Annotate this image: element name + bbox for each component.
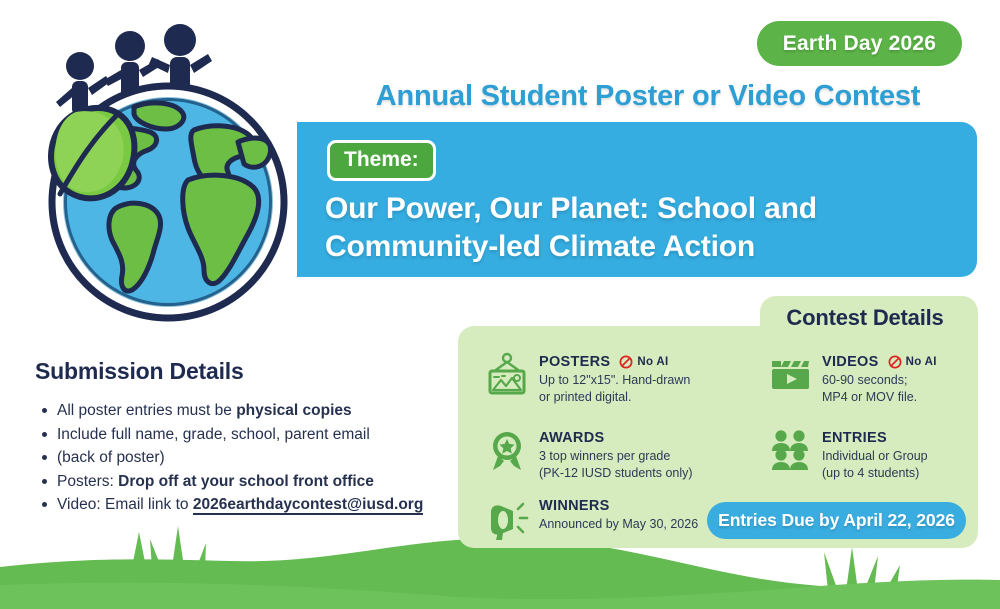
theme-tag-label: Theme:: [344, 148, 419, 171]
no-ai-prohibition-icon: [888, 355, 902, 369]
detail-text-winners: WINNERS Announced by May 30, 2026: [539, 496, 698, 533]
theme-statement: Our Power, Our Planet: School and Commun…: [325, 190, 955, 267]
list-item-text: Include full name, grade, school, parent…: [57, 426, 370, 443]
detail-body-line-1: Individual or Group: [822, 448, 928, 465]
detail-item-winners: WINNERS Announced by May 30, 2026: [485, 496, 698, 540]
no-ai-prohibition-icon: [619, 355, 633, 369]
detail-body-videos: 60-90 seconds; MP4 or MOV file.: [822, 372, 937, 406]
poster-canvas: Earth Day 2026 Annual Student Poster or …: [0, 0, 1000, 609]
detail-body-line-2: MP4 or MOV file.: [822, 389, 937, 406]
detail-title-videos: VIDEOS: [822, 354, 879, 370]
detail-item-awards: AWARDS 3 top winners per grade (PK-12 IU…: [485, 428, 693, 482]
theme-line-2: Community-led Climate Action: [325, 228, 955, 266]
list-item-text: (back of poster): [57, 449, 165, 466]
megaphone-icon: [485, 496, 529, 540]
detail-head-entries: ENTRIES: [822, 430, 928, 446]
detail-title-winners: WINNERS: [539, 498, 610, 514]
detail-body-line-2: or printed digital.: [539, 389, 690, 406]
detail-body-line-1: 60-90 seconds;: [822, 372, 937, 389]
detail-body-posters: Up to 12"x15". Hand-drawn or printed dig…: [539, 372, 690, 406]
detail-item-posters: POSTERS No AI Up to 12"x15". Hand-drawn …: [485, 352, 690, 406]
earth-day-badge: Earth Day 2026: [757, 21, 962, 66]
list-item: Posters: Drop off at your school front o…: [57, 470, 455, 494]
detail-text-entries: ENTRIES Individual or Group (up to 4 stu…: [822, 428, 928, 482]
detail-body-awards: 3 top winners per grade (PK-12 IUSD stud…: [539, 448, 693, 482]
entries-due-label: Entries Due by April 22, 2026: [718, 510, 955, 531]
detail-head-awards: AWARDS: [539, 430, 693, 446]
detail-body-line-1: 3 top winners per grade: [539, 448, 693, 465]
detail-body-line-2: (PK-12 IUSD students only): [539, 465, 693, 482]
award-ribbon-icon: [485, 428, 529, 472]
detail-item-entries: ENTRIES Individual or Group (up to 4 stu…: [768, 428, 928, 482]
list-item: Include full name, grade, school, parent…: [57, 423, 455, 447]
contest-email-link[interactable]: 2026earthdaycontest@iusd.org: [193, 496, 423, 515]
list-item-emphasis: Drop off at your school front office: [118, 473, 374, 490]
people-group-icon: [768, 428, 812, 472]
detail-item-videos: VIDEOS No AI 60-90 seconds; MP4 or MOV f…: [768, 352, 937, 406]
detail-head-posters: POSTERS No AI: [539, 354, 690, 370]
page-title: Annual Student Poster or Video Contest: [318, 80, 978, 113]
list-item: Video: Email link to 2026earthdaycontest…: [57, 493, 455, 517]
detail-title-awards: AWARDS: [539, 430, 604, 446]
detail-text-posters: POSTERS No AI Up to 12"x15". Hand-drawn …: [539, 352, 690, 406]
detail-body-entries: Individual or Group (up to 4 students): [822, 448, 928, 482]
theme-tag: Theme:: [327, 140, 436, 181]
theme-banner: Theme: Our Power, Our Planet: School and…: [297, 122, 977, 277]
detail-head-winners: WINNERS: [539, 498, 698, 514]
detail-body-line-1: Up to 12"x15". Hand-drawn: [539, 372, 690, 389]
list-item-text: Posters:: [57, 473, 118, 490]
detail-body-winners: Announced by May 30, 2026: [539, 516, 698, 533]
picture-frame-icon: [485, 352, 529, 396]
no-ai-label: No AI: [906, 356, 937, 368]
clapperboard-icon: [768, 352, 812, 396]
submission-details-list: All poster entries must be physical copi…: [35, 399, 455, 517]
earth-globe-illustration: [8, 12, 328, 322]
no-ai-badge-posters: No AI: [619, 355, 668, 369]
detail-body-line-2: (up to 4 students): [822, 465, 928, 482]
no-ai-badge-videos: No AI: [888, 355, 937, 369]
entries-due-button[interactable]: Entries Due by April 22, 2026: [707, 502, 966, 539]
list-item-text: Video: Email link to: [57, 496, 193, 513]
submission-details-heading: Submission Details: [35, 358, 455, 385]
list-item: All poster entries must be physical copi…: [57, 399, 455, 423]
earth-day-badge-label: Earth Day 2026: [783, 32, 936, 56]
detail-title-entries: ENTRIES: [822, 430, 887, 446]
contest-details-title: Contest Details: [760, 305, 970, 331]
detail-body-line-1: Announced by May 30, 2026: [539, 516, 698, 533]
no-ai-label: No AI: [637, 356, 668, 368]
detail-head-videos: VIDEOS No AI: [822, 354, 937, 370]
detail-text-videos: VIDEOS No AI 60-90 seconds; MP4 or MOV f…: [822, 352, 937, 406]
submission-details-section: Submission Details All poster entries mu…: [35, 358, 455, 517]
list-item: (back of poster): [57, 446, 455, 470]
detail-title-posters: POSTERS: [539, 354, 610, 370]
list-item-text: All poster entries must be: [57, 402, 236, 419]
detail-text-awards: AWARDS 3 top winners per grade (PK-12 IU…: [539, 428, 693, 482]
theme-line-1: Our Power, Our Planet: School and: [325, 190, 955, 228]
list-item-emphasis: physical copies: [236, 402, 351, 419]
